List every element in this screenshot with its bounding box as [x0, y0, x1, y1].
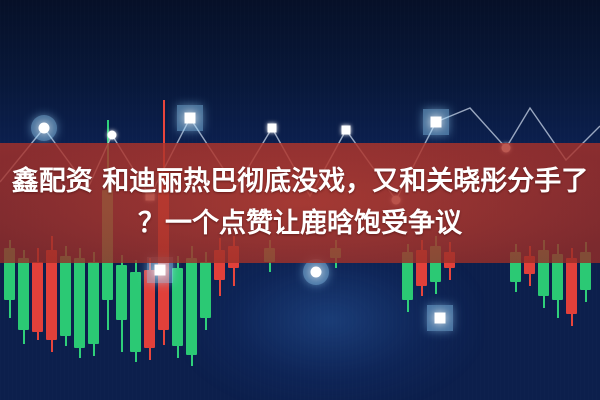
trend-node-circle: [311, 267, 322, 278]
trend-node-square: [435, 313, 446, 324]
headline-band-glow: [0, 143, 600, 263]
trend-node-square: [155, 265, 166, 276]
thumbnail-canvas: 鑫配资 和迪丽热巴彻底没戏，又和关晓彤分手了 ？一个点赞让鹿晗饱受争议: [0, 0, 600, 400]
trend-node-circle: [108, 131, 117, 140]
trend-node-square: [342, 126, 351, 135]
trend-node-circle: [39, 123, 50, 134]
trend-node-square: [268, 124, 277, 133]
trend-node-square: [185, 113, 196, 124]
trend-node-square: [431, 117, 442, 128]
headline-band: [0, 143, 600, 263]
